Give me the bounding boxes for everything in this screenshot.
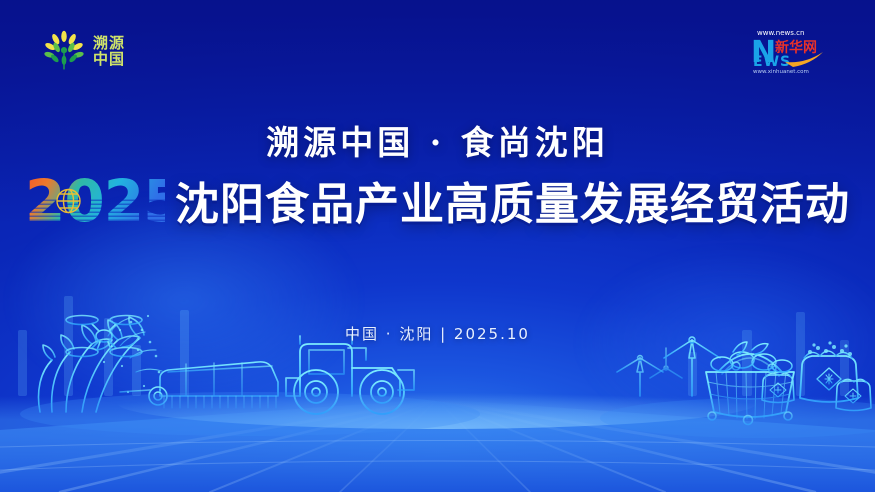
year-2025-graphic: 2025 [25, 169, 165, 231]
poster-headline: 沈阳食品产业高质量发展经贸活动 [175, 168, 850, 232]
suyuan-line2: 中国 [93, 52, 125, 68]
xinhua-logo-icon: www.news.cn N EWS 新华网 www.xinhuanet.com [749, 26, 839, 74]
suyuan-zhongguo-logo[interactable]: 溯源 中国 [42, 30, 125, 74]
leaf-burst-icon [42, 30, 86, 74]
ground-field-illustration [0, 0, 875, 492]
poster-place-date: 中国 · 沈阳 | 2025.10 [0, 323, 875, 344]
xinhua-mark-word: EWS [753, 54, 791, 70]
xinhua-cn-name: 新华网 [775, 39, 817, 56]
poster-subtitle: 溯源中国 · 食尚沈阳 [0, 116, 875, 164]
event-poster: 溯源 中国 www.news.cn N EWS 新华网 www.xinhuane… [0, 0, 875, 492]
year-2025-svg: 2025 [25, 169, 165, 231]
headline-row: 2025 沈阳食品产业高质量发展经贸活动 [0, 168, 875, 232]
xinhua-bottom-url: www.xinhuanet.com [753, 69, 809, 74]
suyuan-wordmark: 溯源 中国 [93, 36, 125, 68]
xinhua-news-logo[interactable]: www.news.cn N EWS 新华网 www.xinhuanet.com [749, 26, 839, 74]
